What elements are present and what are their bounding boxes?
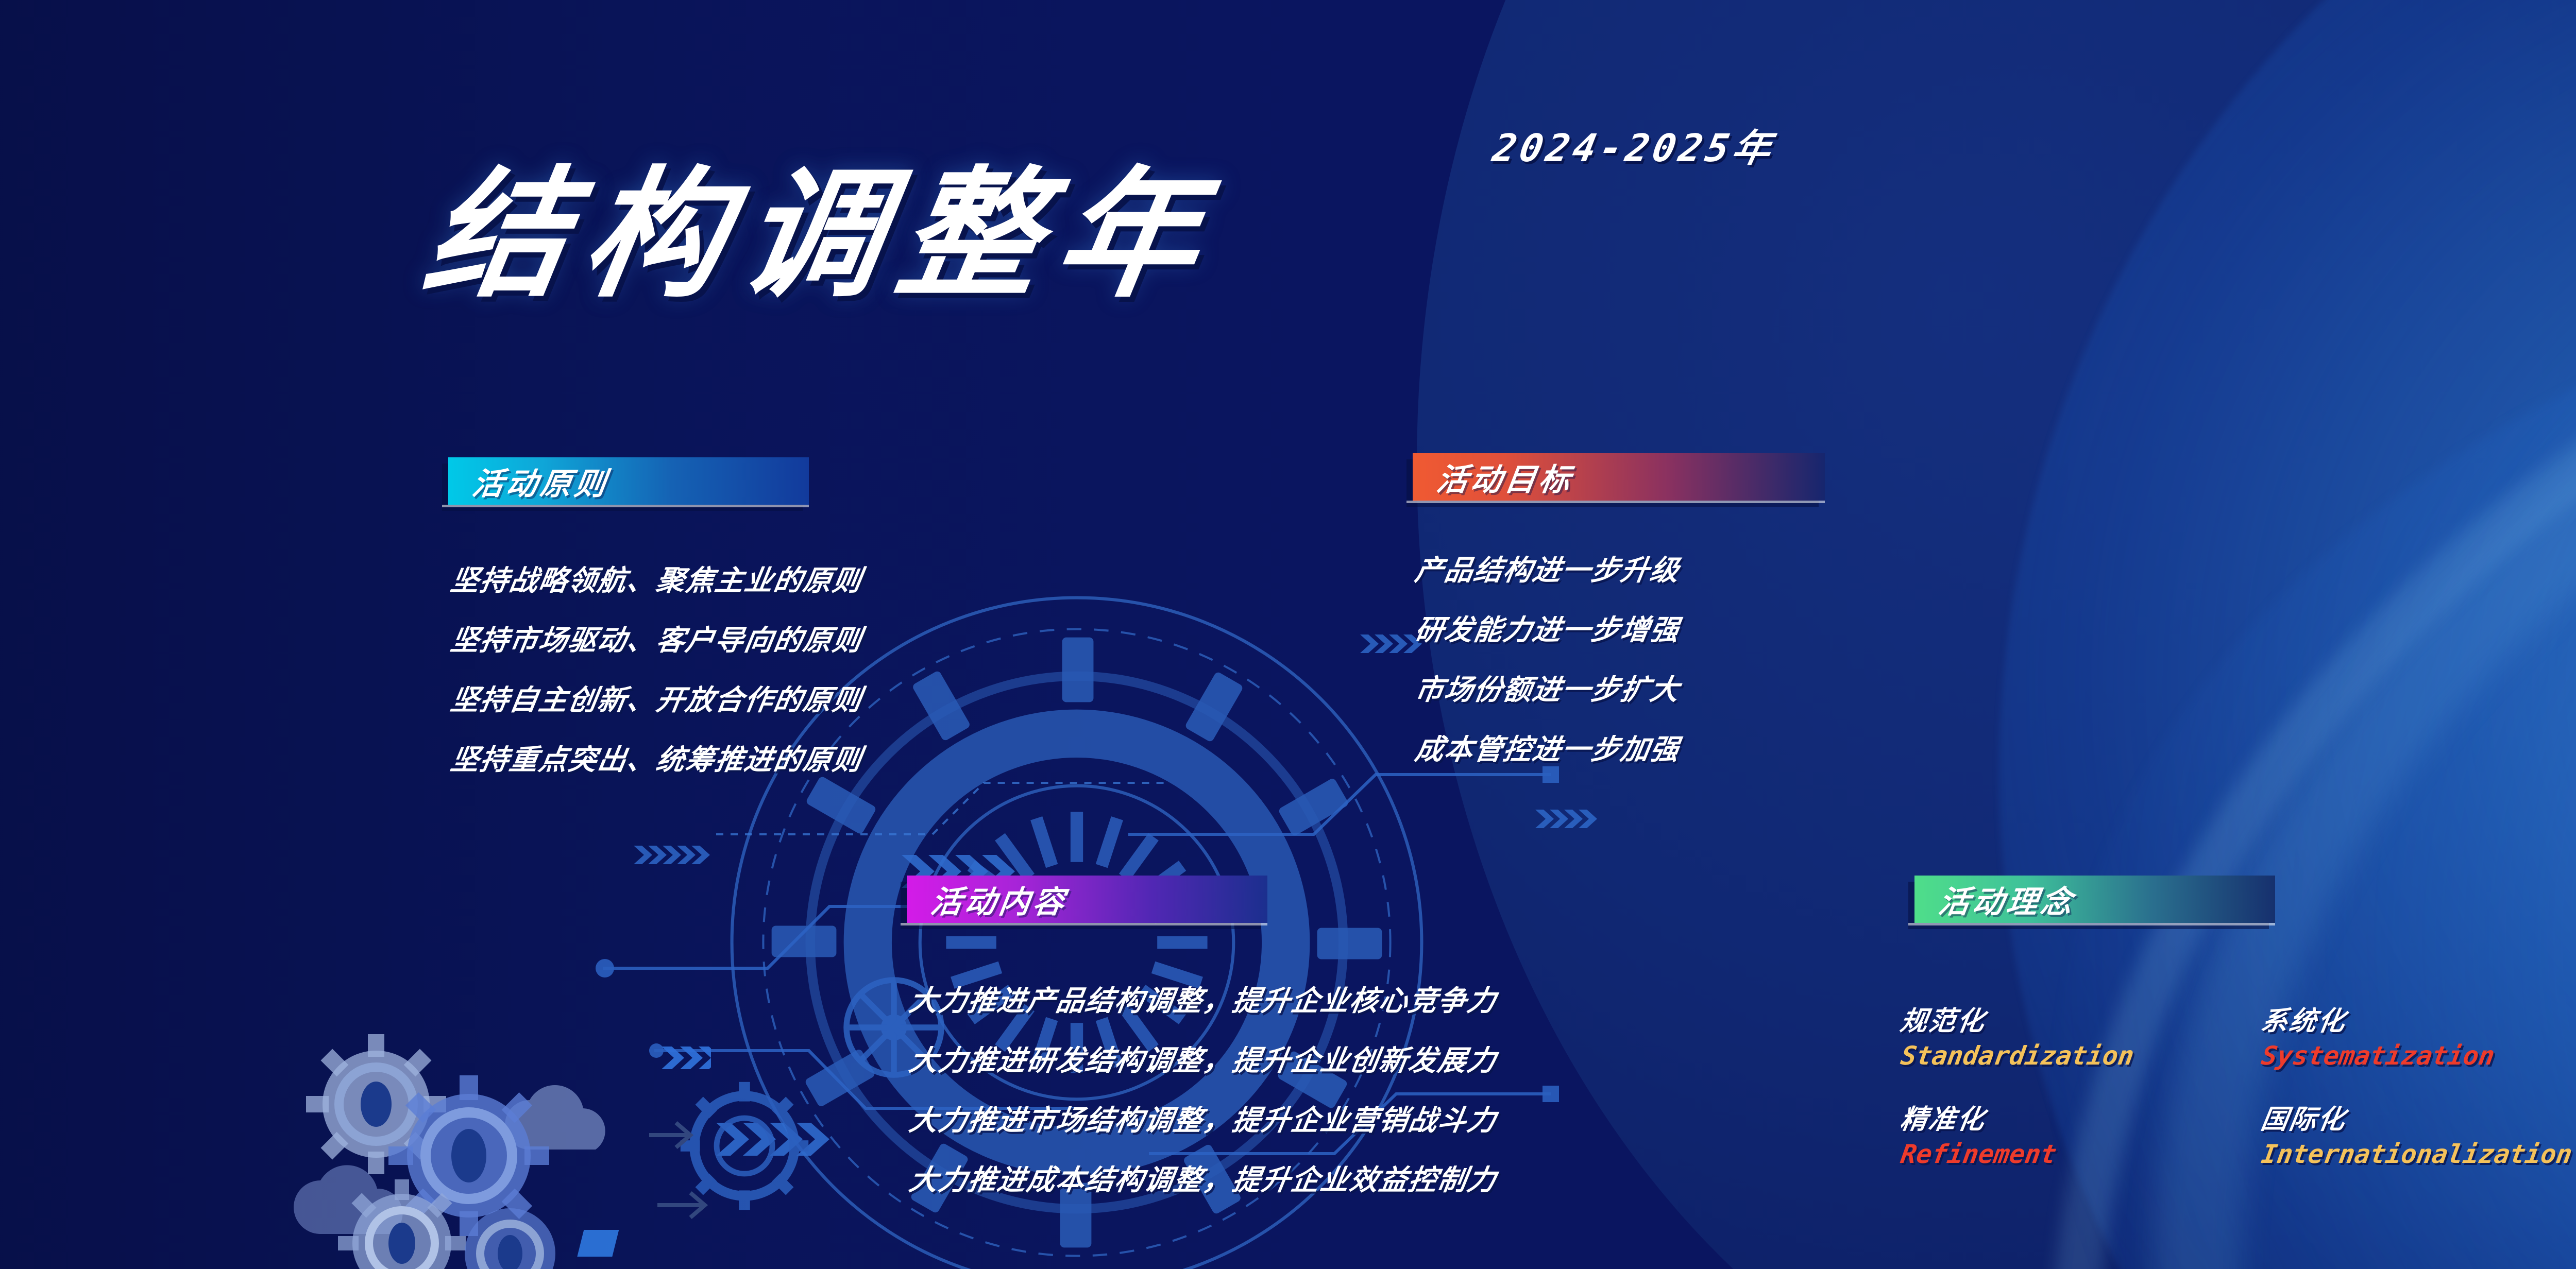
list-item: 坚持市场驱动、客户导向的原则 [448, 617, 866, 658]
list-item: 大力推进成本结构调整，提升企业效益控制力 [907, 1157, 1501, 1198]
section-badge-principles: 活动原则 [448, 457, 809, 505]
goals-list: 产品结构进一步升级 研发能力进一步增强 市场份额进一步扩大 成本管控进一步加强 [1416, 547, 1680, 786]
year-range-label: 2024-2025年 [1489, 117, 1781, 173]
list-item: 大力推进市场结构调整，提升企业营销战斗力 [907, 1097, 1501, 1138]
concepts-grid: 规范化 Standardization 系统化 Systematization … [1901, 999, 2576, 1169]
principles-list: 坚持战略领航、聚焦主业的原则 坚持市场驱动、客户导向的原则 坚持自主创新、开放合… [451, 557, 862, 796]
concept-item: 国际化 Internationalization [2262, 1097, 2576, 1169]
concept-item: 系统化 Systematization [2262, 999, 2576, 1071]
list-item: 大力推进研发结构调整，提升企业创新发展力 [907, 1037, 1501, 1078]
concept-label-en: Refinement [1899, 1139, 2264, 1169]
section-badge-contents: 活动内容 [907, 876, 1267, 923]
list-item: 成本管控进一步加强 [1413, 726, 1684, 767]
section-badge-concepts: 活动理念 [1914, 876, 2275, 923]
page-title: 结构调整年 [416, 165, 1227, 305]
concept-label-cn: 国际化 [2259, 1097, 2576, 1136]
list-item: 坚持重点突出、统筹推进的原则 [448, 736, 866, 778]
concept-label-en: Internationalization [2259, 1139, 2576, 1169]
concept-label-cn: 规范化 [1898, 999, 2265, 1038]
poster-canvas: 2024-2025年 结构调整年 活动原则 坚持战略领航、聚焦主业的原则 坚持市… [0, 0, 2576, 1269]
section-badge-concepts-label: 活动理念 [1936, 877, 2120, 922]
list-item: 市场份额进一步扩大 [1413, 666, 1684, 708]
section-badge-goals-label: 活动目标 [1434, 455, 1618, 500]
list-item: 研发能力进一步增强 [1413, 607, 1684, 648]
section-underline-concepts [1908, 923, 2275, 925]
slogan-secondary: 奋进高质量发展新征程 [2568, 440, 2576, 528]
concept-label-cn: 精准化 [1898, 1097, 2265, 1136]
contents-list: 大力推进产品结构调整，提升企业核心竞争力 大力推进研发结构调整，提升企业创新发展… [910, 978, 1497, 1216]
concept-item: 精准化 Refinement [1901, 1097, 2262, 1169]
list-item: 大力推进产品结构调整，提升企业核心竞争力 [907, 978, 1501, 1019]
list-item: 坚持战略领航、聚焦主业的原则 [448, 557, 866, 598]
concept-label-cn: 系统化 [2259, 999, 2576, 1038]
section-underline-goals [1406, 501, 1825, 503]
list-item: 产品结构进一步升级 [1413, 547, 1684, 588]
concept-label-en: Systematization [2259, 1041, 2576, 1071]
section-underline-principles [442, 505, 809, 507]
section-badge-goals: 活动目标 [1413, 453, 1825, 501]
section-badge-contents-label: 活动内容 [928, 877, 1112, 922]
concept-item: 规范化 Standardization [1901, 999, 2262, 1071]
section-underline-contents [901, 923, 1267, 925]
list-item: 坚持自主创新、开放合作的原则 [448, 677, 866, 718]
concept-label-en: Standardization [1899, 1041, 2264, 1071]
section-badge-principles-label: 活动原则 [470, 459, 653, 504]
